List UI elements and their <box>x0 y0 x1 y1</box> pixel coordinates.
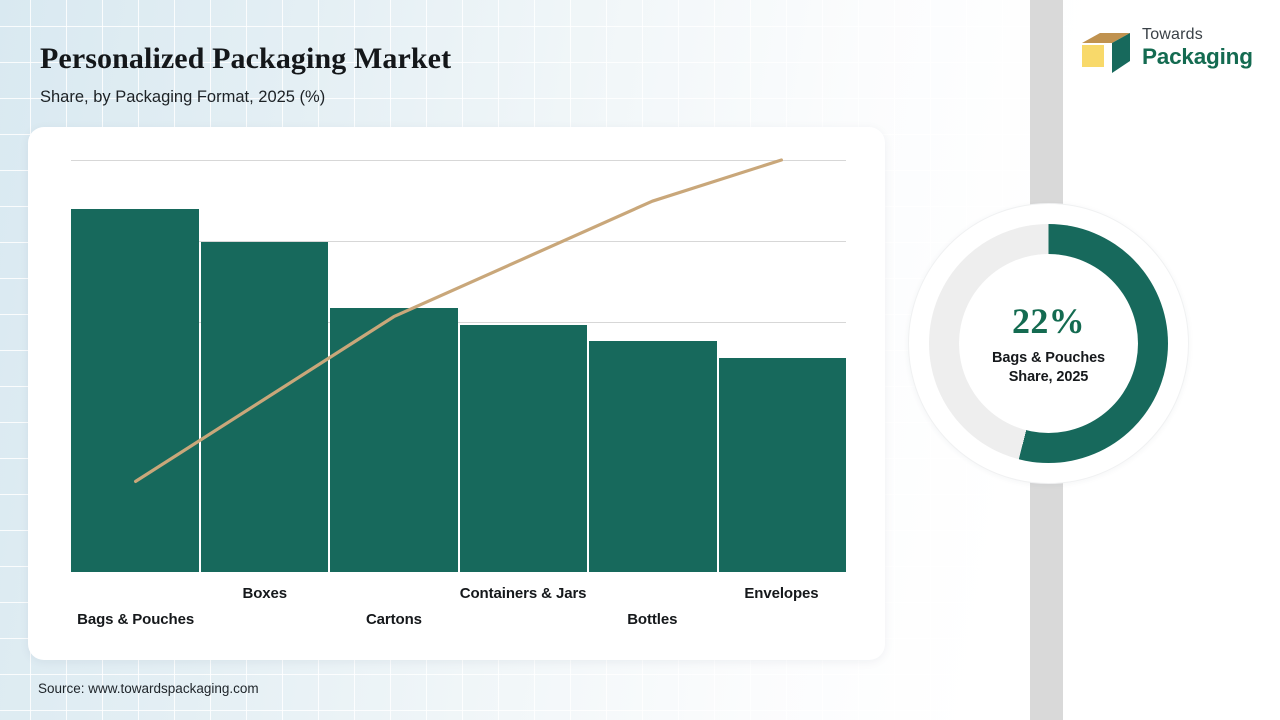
x-axis-label-0: Bags & Pouches <box>71 576 200 648</box>
bar-5 <box>719 358 847 572</box>
donut-callout: 22% Bags & Pouches Share, 2025 <box>908 203 1189 484</box>
box-3d-icon <box>1078 31 1134 75</box>
bar-1 <box>201 242 329 572</box>
infographic-canvas: Personalized Packaging Market Share, by … <box>0 0 1280 720</box>
logo-wordmark: Towards Packaging <box>1142 25 1254 70</box>
page-subtitle: Share, by Packaging Format, 2025 (%) <box>40 88 325 107</box>
logo-line-2: Packaging <box>1142 44 1254 70</box>
bar-3 <box>460 325 588 572</box>
bar-2 <box>330 308 458 572</box>
donut-center: 22% Bags & Pouches Share, 2025 <box>959 254 1138 433</box>
logo-line-1: Towards <box>1142 25 1254 44</box>
x-axis-label-2: Cartons <box>329 576 458 648</box>
page-title: Personalized Packaging Market <box>40 42 451 76</box>
source-note: Source: www.towardspackaging.com <box>38 681 259 696</box>
bar-series <box>71 160 846 572</box>
x-axis-label-5: Envelopes <box>717 576 846 648</box>
brand-logo[interactable]: Towards Packaging <box>1078 25 1254 77</box>
bar-4 <box>589 341 717 572</box>
bar-0 <box>71 209 199 572</box>
plot-area <box>71 160 846 572</box>
x-axis-label-1: Boxes <box>200 576 329 648</box>
x-axis-label-3: Containers & Jars <box>459 576 588 648</box>
chart-card: Bags & PouchesBoxesCartonsContainers & J… <box>28 127 885 660</box>
x-axis-label-4: Bottles <box>588 576 717 648</box>
donut-label-line-1: Bags & Pouches <box>992 349 1105 368</box>
x-axis-labels: Bags & PouchesBoxesCartonsContainers & J… <box>71 576 846 648</box>
donut-value: 22% <box>1012 301 1085 341</box>
donut-label-line-2: Share, 2025 <box>1009 368 1089 387</box>
